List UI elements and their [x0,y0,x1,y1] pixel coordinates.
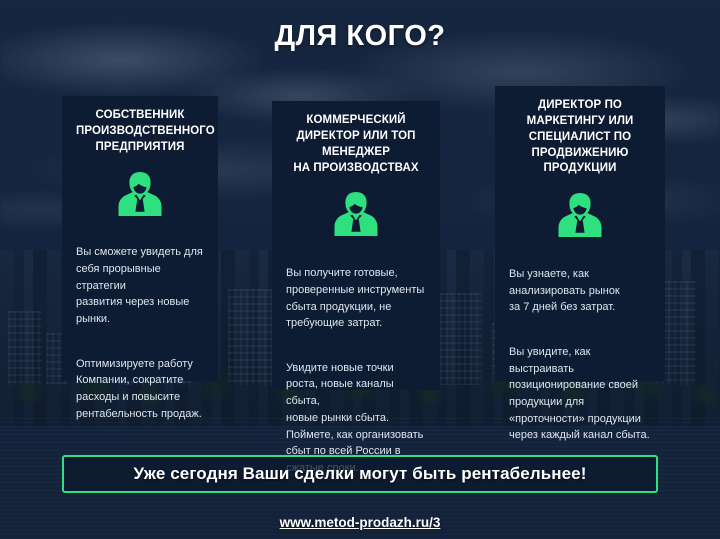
audience-card-owner: СОБСТВЕННИК ПРОИЗВОДСТВЕННОГО ПРЕДПРИЯТИ… [62,96,218,381]
audience-card-marketing-director: ДИРЕКТОР ПО МАРКЕТИНГУ ИЛИ СПЕЦИАЛИСТ ПО… [495,86,665,381]
card-title: СОБСТВЕННИК ПРОИЗВОДСТВЕННОГО ПРЕДПРИЯТИ… [76,108,204,156]
audience-card-commercial-director: КОММЕРЧЕСКИЙ ДИРЕКТОР ИЛИ ТОП МЕНЕДЖЕР Н… [272,101,440,390]
slide: ДЛЯ КОГО? СОБСТВЕННИК ПРОИЗВОДСТВЕННОГО … [0,0,720,539]
card-paragraph: Вы сможете увидеть для себя прорывные ст… [76,244,204,328]
callout-banner: Уже сегодня Ваши сделки могут быть рента… [62,455,658,493]
card-paragraph: Вы узнаете, как анализировать рынок за 7… [509,266,651,316]
card-paragraph: Вы увидите, как выстраивать позициониров… [509,344,651,444]
card-body: Вы сможете увидеть для себя прорывные ст… [76,228,204,440]
page-title: ДЛЯ КОГО? [0,20,720,53]
card-body: Вы узнаете, как анализировать рынок за 7… [509,249,651,461]
businessperson-icon [76,166,204,216]
card-title: КОММЕРЧЕСКИЙ ДИРЕКТОР ИЛИ ТОП МЕНЕДЖЕР Н… [286,113,426,176]
card-paragraph: Вы получите готовые, проверенные инструм… [286,265,426,332]
businessperson-icon [509,187,651,237]
card-paragraph: Оптимизируете работу Компании, сократите… [76,356,204,423]
businessperson-icon [286,186,426,236]
card-title: ДИРЕКТОР ПО МАРКЕТИНГУ ИЛИ СПЕЦИАЛИСТ ПО… [509,98,651,177]
footer-url[interactable]: www.metod-prodazh.ru/3 [0,515,720,530]
